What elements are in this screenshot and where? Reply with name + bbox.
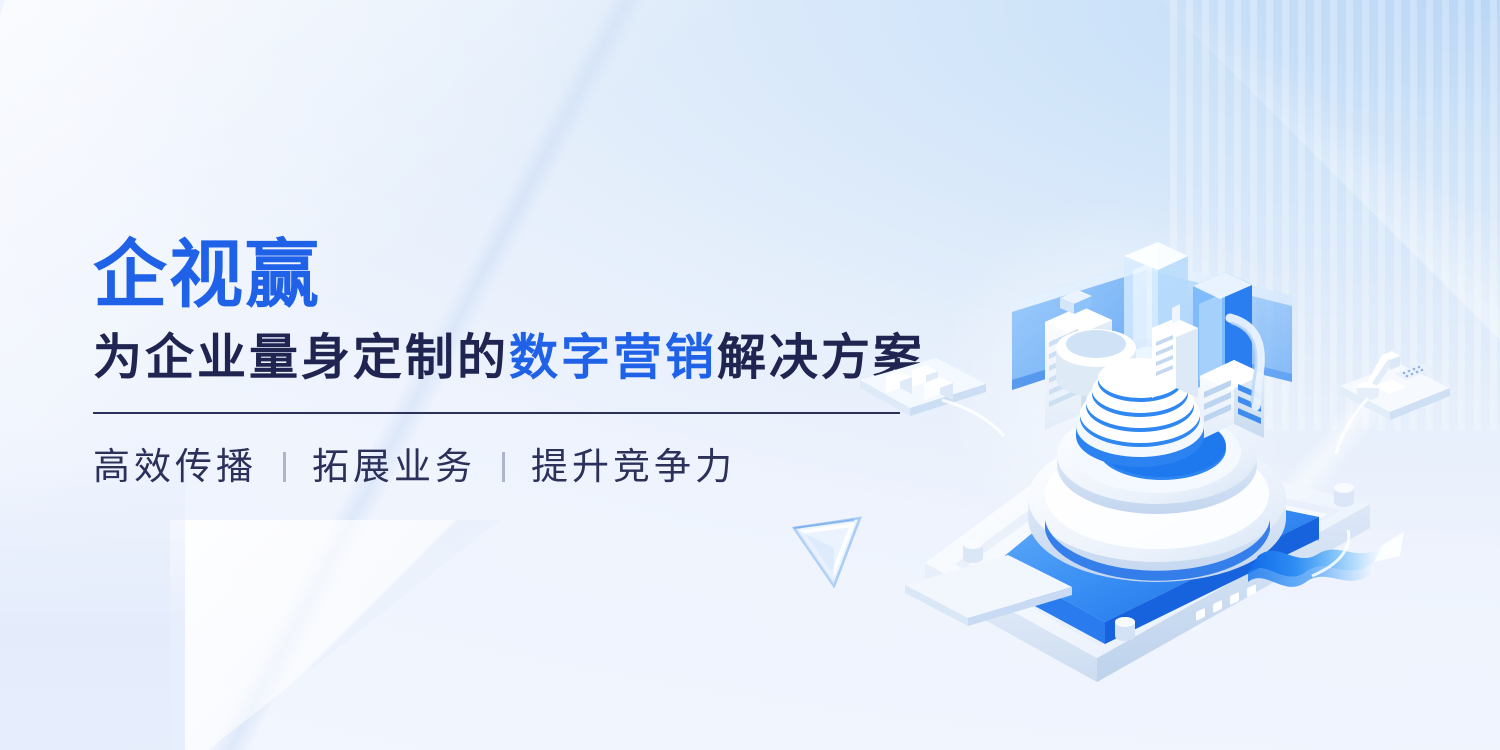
hero-illustration [900,230,1470,650]
tagline-row: 高效传播 拓展业务 提升竞争力 [93,445,923,489]
peg-right [1334,483,1354,507]
divider-rule [93,412,900,414]
headline-lead: 为企业量身定制的 [93,331,509,385]
tagline-item-3: 提升竞争力 [531,445,736,489]
tagline-separator-2 [502,452,505,482]
headline-highlight: 数字营销 [509,331,717,385]
brand-title: 企视赢 [93,236,923,314]
peg-left [963,539,983,563]
tagline-item-2: 拓展业务 [312,445,476,489]
peg-front [1115,617,1135,641]
headline: 为企业量身定制的数字营销解决方案 [93,330,923,388]
bg-shard-lower-left-triangle [170,520,500,750]
hero-banner: 企视赢 为企业量身定制的数字营销解决方案 高效传播 拓展业务 提升竞争力 [0,0,1500,750]
glass-triangle-prism [794,518,860,586]
hero-copy: 企视赢 为企业量身定制的数字营销解决方案 高效传播 拓展业务 提升竞争力 [93,236,923,490]
tagline-item-1: 高效传播 [93,445,257,489]
tagline-separator-1 [283,452,286,482]
